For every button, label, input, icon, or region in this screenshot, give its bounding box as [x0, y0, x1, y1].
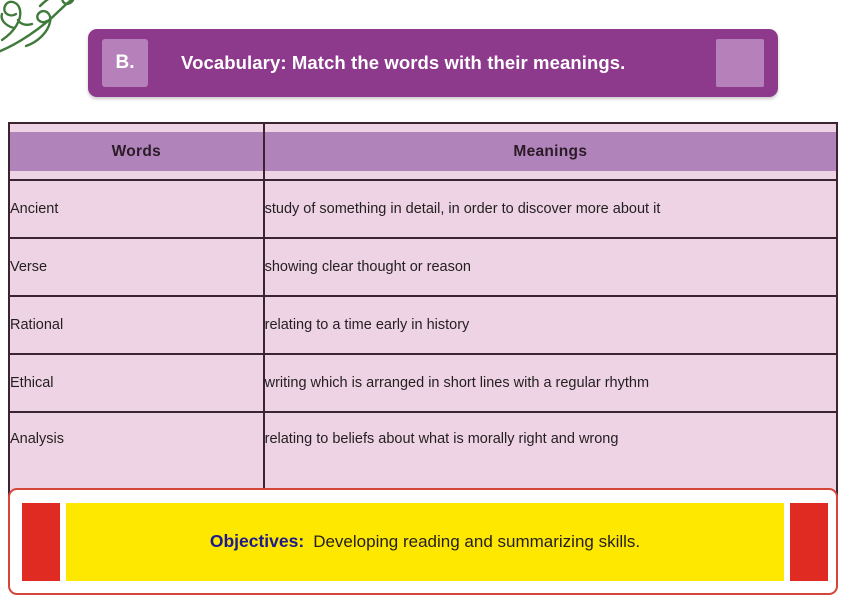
meaning-cell: showing clear thought or reason: [264, 238, 837, 296]
table-row: Ancient study of something in detail, in…: [9, 180, 837, 238]
column-header-words-label: Words: [10, 132, 263, 171]
table-row: Analysis relating to beliefs about what …: [9, 412, 837, 495]
section-heading-bar: B. Vocabulary: Match the words with thei…: [88, 29, 778, 97]
section-title: Vocabulary: Match the words with their m…: [148, 52, 716, 74]
meaning-cell: study of something in detail, in order t…: [264, 180, 837, 238]
table-row: Rational relating to a time early in his…: [9, 296, 837, 354]
page-header-strip: [0, 0, 848, 8]
word-cell: Analysis: [9, 412, 264, 495]
objectives-left-accent-bar: [22, 503, 60, 581]
meaning-cell: relating to a time early in history: [264, 296, 837, 354]
table-header-row: Words Meanings: [9, 123, 837, 180]
objectives-text: Developing reading and summarizing skill…: [313, 532, 640, 552]
word-cell: Verse: [9, 238, 264, 296]
word-cell: Rational: [9, 296, 264, 354]
objectives-content-panel: Objectives: Developing reading and summa…: [66, 503, 784, 581]
column-header-meanings: Meanings: [264, 123, 837, 180]
word-cell: Ancient: [9, 180, 264, 238]
section-letter-badge: B.: [102, 39, 148, 87]
meaning-cell: writing which is arranged in short lines…: [264, 354, 837, 412]
objectives-label: Objectives:: [210, 531, 304, 552]
word-cell: Ethical: [9, 354, 264, 412]
meaning-cell: relating to beliefs about what is morall…: [264, 412, 837, 495]
column-header-meanings-label: Meanings: [265, 132, 836, 171]
objectives-banner: Objectives: Developing reading and summa…: [8, 488, 838, 595]
decorative-end-square: [716, 39, 764, 87]
objectives-right-accent-bar: [790, 503, 828, 581]
table-row: Verse showing clear thought or reason: [9, 238, 837, 296]
vocabulary-match-table: Words Meanings Ancient study of somethin…: [8, 122, 838, 496]
table-row: Ethical writing which is arranged in sho…: [9, 354, 837, 412]
column-header-words: Words: [9, 123, 264, 180]
